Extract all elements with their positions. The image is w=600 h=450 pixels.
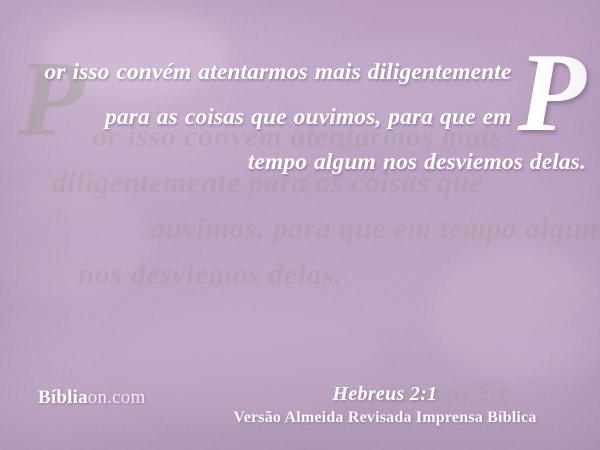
verse-dropcap: P — [517, 52, 586, 135]
logo-bold-part: Bíblia — [38, 387, 88, 408]
verse-reference: Hebreus 2:1 — [180, 382, 590, 406]
bible-version-label: Versão Almeida Revisada Imprensa Bíblica — [180, 408, 590, 428]
verse-body: or isso convém atentarmos mais diligente… — [44, 59, 586, 175]
background-smudge — [430, 250, 600, 380]
bibliaon-logo[interactable]: Bíbliaon.com — [38, 388, 145, 407]
background-smudge — [0, 180, 150, 300]
reference-group: Hebreus 2:1 Versão Almeida Revisada Impr… — [180, 382, 590, 428]
verse-text-block: Por isso convém atentarmos mais diligent… — [40, 50, 586, 185]
watermark-line: nos desviemos delas. — [78, 258, 342, 292]
verse-image-card: P or isso convém atentarmos mais diligen… — [0, 0, 600, 450]
watermark-line: ouvimos, para que em tempo algum — [150, 212, 600, 246]
logo-light-part: on.com — [88, 387, 146, 408]
